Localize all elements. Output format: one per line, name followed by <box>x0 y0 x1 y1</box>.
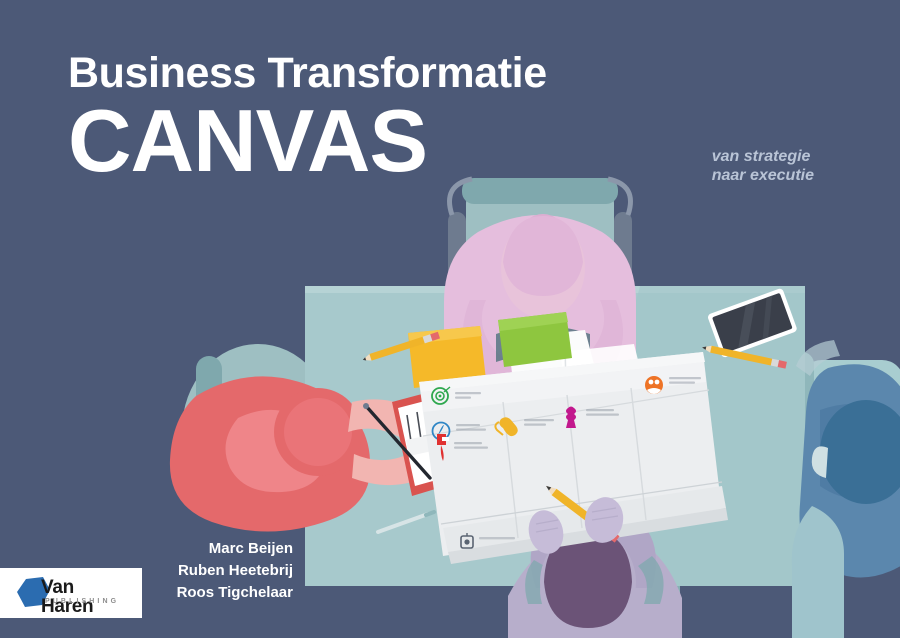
publisher-name: Van Haren <box>41 578 131 616</box>
sticky-note-green <box>498 312 572 367</box>
cover-subtitle: van strategie naar executie <box>712 148 814 186</box>
author-name: Marc Beijen <box>0 538 293 560</box>
title-block: Business Transformatie CANVAS <box>68 52 547 183</box>
canvas-icon-chess <box>566 407 576 429</box>
cover-title-primary: Business Transformatie <box>68 52 547 95</box>
publisher-tagline: PUBLISHING <box>45 598 119 605</box>
cover-subtitle-line1: van strategie <box>712 148 814 167</box>
canvas-icon-people <box>645 376 663 394</box>
cover-title-secondary: CANVAS <box>68 99 547 183</box>
book-cover: Business Transformatie CANVAS van strate… <box>0 0 900 638</box>
publisher-logo: Van Haren PUBLISHING <box>0 568 142 618</box>
cover-subtitle-line2: naar executie <box>712 167 814 186</box>
